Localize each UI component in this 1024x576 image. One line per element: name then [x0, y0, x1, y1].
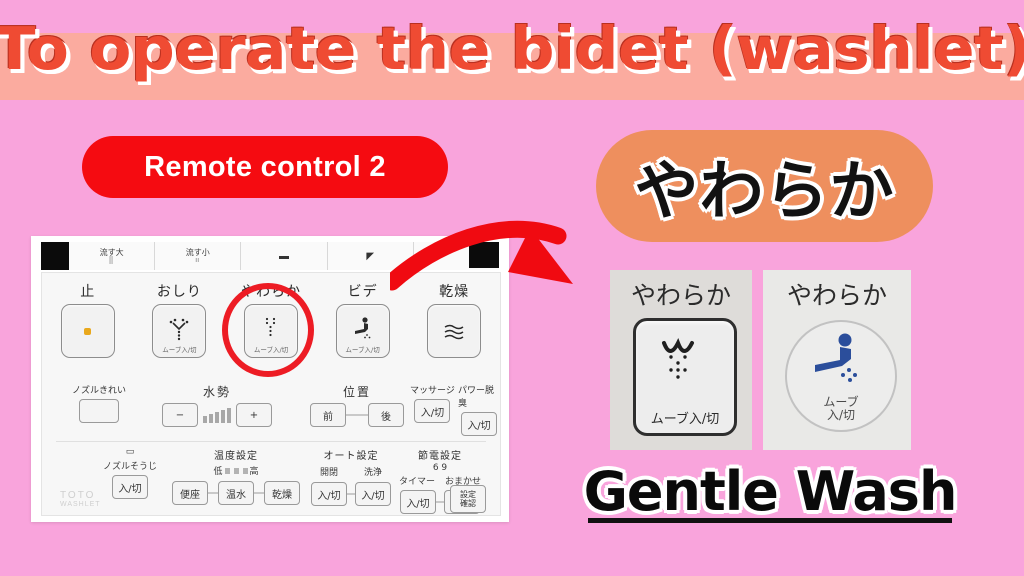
secondary-control-row: ノズルきれい 水勢 − + 位置 前	[42, 383, 500, 435]
auto-lid-button[interactable]: 入/切	[311, 482, 347, 506]
temperature-level-bar-3	[243, 468, 248, 474]
soft-spray-icon	[654, 337, 716, 401]
nozzle-clean-group: ノズルきれい	[72, 383, 126, 423]
nozzle-cleaning-label: ノズルそうじ	[100, 459, 160, 472]
closeup-soft-wash-square: やわらか ムーブ入/切	[610, 270, 752, 450]
position-back-button[interactable]: 後	[368, 403, 404, 427]
power-deodorize-group: パワー脱臭 入/切	[458, 383, 500, 436]
flush-large-button[interactable]: 流す大 ⣿	[69, 242, 154, 270]
auto-lid-label: 開閉	[320, 465, 338, 478]
nozzle-cleaning-button[interactable]: 入/切	[112, 475, 148, 499]
stop-button[interactable]	[61, 304, 115, 358]
flush-small-button[interactable]: 流す小 ⠶	[154, 242, 240, 270]
bidet-person-icon	[805, 332, 871, 388]
bidet-label: ビデ	[348, 281, 378, 301]
closeup-soft-wash-square-button[interactable]: ムーブ入/切	[633, 318, 737, 436]
page-title: To operate the bidet (washlet)	[0, 18, 1024, 80]
massage-label: マッサージ	[410, 383, 455, 396]
caption-underline	[588, 518, 952, 523]
stop-button-group: 止	[50, 281, 126, 358]
closeup-square-move-sub: ムーブ入/切	[636, 408, 734, 427]
closeup-circle-move-sub: ムーブ 入/切	[787, 396, 895, 422]
toto-logo-line1: TOTO	[60, 491, 101, 500]
rear-wash-move-sub: ムーブ入/切	[153, 344, 205, 354]
flush-small-dots-icon: ⠶	[195, 257, 201, 264]
temperature-level-bar-2	[234, 468, 239, 474]
remote-control-badge: Remote control 2	[82, 136, 448, 198]
top-strip-black-block-left	[41, 242, 69, 270]
stop-indicator-icon	[84, 328, 91, 335]
water-pressure-plus-button[interactable]: +	[236, 403, 272, 427]
yawaraka-badge: やわらか	[596, 130, 933, 242]
power-deodorize-button[interactable]: 入/切	[461, 412, 497, 436]
temperature-high-label: 高	[250, 464, 259, 477]
flush-small-label: 流す小	[186, 248, 210, 257]
dryer-waves-icon	[441, 321, 467, 341]
slide-root: To operate the bidet (washlet) Remote co…	[0, 0, 1024, 576]
rear-wash-button-group: おしり ムーブ入/切	[141, 281, 217, 358]
rear-wash-label: おしり	[157, 281, 202, 301]
closeup-circle-move-line2: 入/切	[787, 409, 895, 422]
water-pressure-label: 水勢	[203, 383, 231, 400]
temperature-settings-head: 温度設定	[172, 447, 300, 462]
settings-confirm-line2: 確認	[460, 499, 476, 508]
flush-large-label: 流す大	[100, 248, 124, 257]
position-connector	[346, 414, 368, 416]
water-pressure-minus-button[interactable]: −	[162, 403, 198, 427]
massage-group: マッサージ 入/切	[410, 383, 455, 423]
closeup-soft-wash-circle-label: やわらか	[763, 276, 911, 312]
energy-saving-timer-hours: 6 9	[394, 463, 486, 473]
seat-temperature-button[interactable]: 便座	[172, 481, 208, 505]
caption-gentle-wash: Gentle Wash	[560, 460, 980, 523]
temperature-level-bar-1	[225, 468, 230, 474]
settings-confirm-line1: 設定	[460, 490, 476, 499]
flush-large-dots-icon: ⣿	[109, 257, 115, 264]
stop-label: 止	[80, 281, 95, 301]
water-temperature-button[interactable]: 温水	[218, 481, 254, 505]
seat-icon: ◤	[366, 251, 374, 262]
closeup-soft-wash-circle: やわらか ムーブ 入/切	[763, 270, 911, 450]
seat-lid-icon: ▬	[279, 251, 289, 262]
nozzle-cleaning-group: ▭ ノズルそうじ 入/切	[100, 447, 160, 499]
soft-wash-highlight-circle	[222, 283, 314, 377]
lid-open-button[interactable]: ▬	[240, 242, 326, 270]
position-label: 位置	[343, 383, 371, 400]
toto-logo-line2: WASHLET	[60, 501, 101, 508]
settings-confirm-button[interactable]: 設定 確認	[450, 485, 486, 513]
auto-settings-head: オート設定	[307, 447, 395, 462]
position-front-button[interactable]: 前	[310, 403, 346, 427]
dryer-temperature-button[interactable]: 乾燥	[264, 481, 300, 505]
nozzle-clean-label: ノズルきれい	[72, 383, 126, 396]
settings-confirm-group: 設定 確認	[450, 485, 486, 513]
settings-row: TOTO WASHLET ▭ ノズルそうじ 入/切 温度設定 低	[42, 447, 500, 509]
position-group: 位置 前 後	[310, 383, 404, 427]
closeup-soft-wash-circle-button[interactable]: ムーブ 入/切	[785, 320, 897, 432]
toto-washlet-logo: TOTO WASHLET	[60, 491, 101, 509]
power-deodorize-label: パワー脱臭	[458, 383, 500, 409]
temperature-low-label: 低	[213, 464, 222, 477]
pointer-arrow-icon	[390, 210, 630, 320]
remote-control-badge-label: Remote control 2	[144, 151, 386, 184]
closeup-soft-wash-square-label: やわらか	[610, 276, 752, 312]
rear-spray-icon	[164, 315, 194, 343]
yawaraka-badge-label: やわらか	[635, 140, 895, 232]
auto-wash-button[interactable]: 入/切	[355, 482, 391, 506]
energy-saving-head: 節電設定	[394, 447, 486, 462]
massage-button[interactable]: 入/切	[414, 399, 450, 423]
bidet-button[interactable]: ムーブ入/切	[336, 304, 390, 358]
nozzle-clean-button[interactable]	[79, 399, 119, 423]
water-pressure-group: 水勢 − +	[162, 383, 272, 427]
bidet-move-sub: ムーブ入/切	[337, 344, 389, 354]
panel-divider	[56, 441, 486, 442]
energy-timer-button[interactable]: 入/切	[400, 490, 436, 514]
caption-gentle-wash-text: Gentle Wash	[584, 460, 957, 523]
bidet-person-icon	[349, 315, 377, 343]
water-pressure-level-bars	[203, 407, 231, 423]
rear-wash-button[interactable]: ムーブ入/切	[152, 304, 206, 358]
energy-timer-label: タイマー	[399, 474, 435, 487]
temperature-settings-group: 温度設定 低 高 便座 温水 乾燥	[172, 447, 300, 505]
nozzle-cleaning-icon: ▭	[100, 447, 160, 457]
auto-wash-label: 洗浄	[364, 465, 382, 478]
auto-settings-group: オート設定 開閉 洗浄 入/切 入/切	[307, 447, 395, 506]
